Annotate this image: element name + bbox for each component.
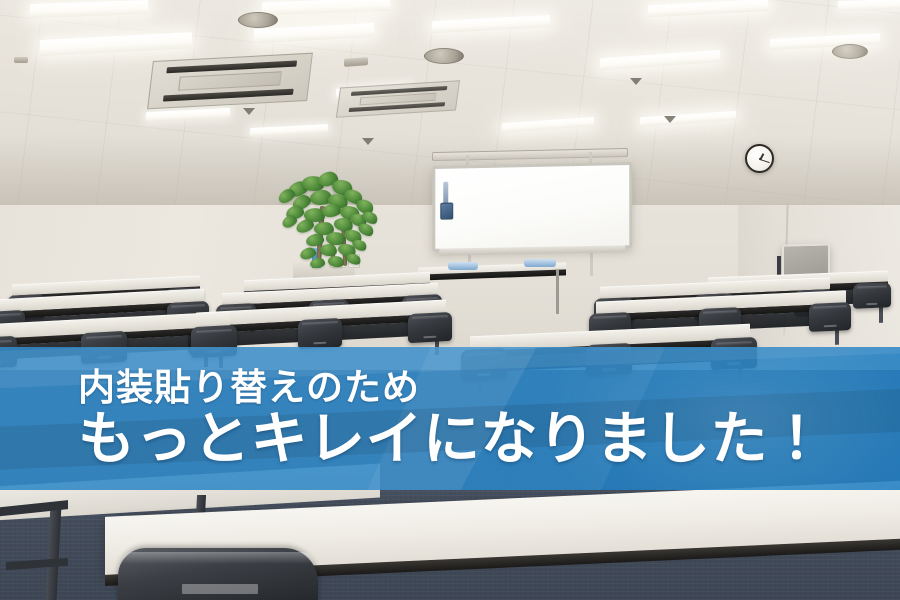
ceiling-sensor-icon [344,57,368,67]
promo-banner: 内装貼り替えのため もっとキレイになりました！ [0,347,900,490]
foreground-chair [118,548,318,600]
ceiling-speaker-icon [362,138,374,145]
round-vent-icon [238,12,278,28]
screenshot-root: 内装貼り替えのため もっとキレイになりました！ [0,0,900,600]
banner-text-block: 内装貼り替えのため もっとキレイになりました！ [0,347,900,490]
whiteboard [432,162,632,252]
wall-clock [745,144,774,173]
stacking-chair [408,312,452,343]
stacking-chair [809,302,851,332]
ac-unit-icon [147,53,313,110]
table-leg [556,270,559,314]
table-item-blue [524,259,556,267]
table-item-blue [448,262,478,270]
stacking-chair [853,282,891,308]
ceiling-speaker-icon [664,116,676,123]
banner-headline-main: もっとキレイになりました！ [78,411,900,468]
whiteboard-eraser-icon [440,202,453,219]
round-vent-icon [424,48,464,64]
room-photograph [0,0,900,600]
ceiling-speaker-icon [630,78,642,85]
round-vent-icon [832,44,868,59]
ceiling-speaker-icon [243,108,255,115]
banner-headline-sub: 内装貼り替えのため [78,369,900,407]
ceiling-sensor-icon [14,57,28,63]
stacking-chair [298,318,342,349]
